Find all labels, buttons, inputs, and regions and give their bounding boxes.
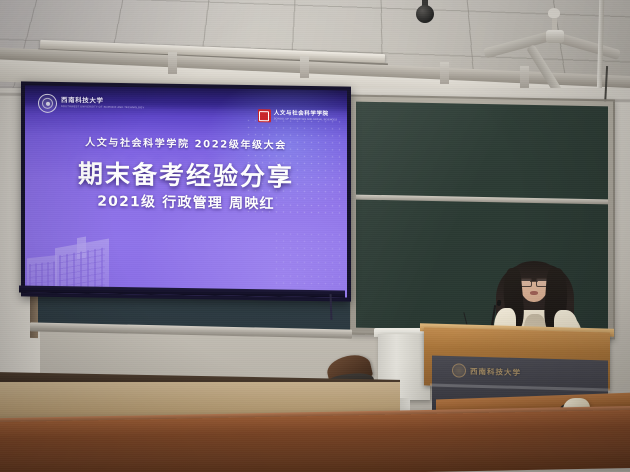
university-seal-icon — [38, 94, 57, 113]
dome-speaker-icon — [416, 5, 434, 23]
college-logo: 人文与社会科学学院 SCHOOL OF HUMANITIES AND SOCIA… — [258, 109, 337, 123]
podium-plaque-text: 西南科技大学 — [470, 365, 521, 377]
slide-subtitle: 2021级 行政管理 周映红 — [25, 189, 347, 214]
fan-blade — [555, 32, 621, 60]
university-name-en: SOUTHWEST UNIVERSITY OF SCIENCE AND TECH… — [61, 106, 144, 110]
slide-dot-pattern — [273, 230, 343, 287]
mouth — [530, 291, 538, 295]
university-logo: 西南科技大学 SOUTHWEST UNIVERSITY OF SCIENCE A… — [38, 94, 144, 115]
presentation-slide: 西南科技大学 SOUTHWEST UNIVERSITY OF SCIENCE A… — [25, 85, 347, 297]
fan-motor — [546, 30, 564, 43]
presenter-person — [492, 258, 578, 336]
eyeglasses-icon — [520, 278, 548, 285]
ceiling-drop-post — [168, 52, 177, 74]
ceiling-drop-post — [300, 56, 309, 78]
classroom-photo-scene: 西南科技大学 SOUTHWEST UNIVERSITY OF SCIENCE A… — [0, 0, 630, 472]
college-mark-icon — [258, 109, 271, 122]
podium-seal-icon — [452, 363, 466, 377]
fan-blade — [483, 30, 555, 58]
podium-plaque: 西南科技大学 — [452, 362, 572, 381]
college-name-en: SCHOOL OF HUMANITIES AND SOCIAL SCIENCES — [274, 118, 337, 121]
ceiling-drop-post — [520, 66, 529, 88]
ceiling-drop-post — [440, 62, 449, 84]
slide-main-title: 期末备考经验分享 — [25, 153, 347, 194]
fan-canopy — [548, 8, 560, 18]
projection-screen[interactable]: 西南科技大学 SOUTHWEST UNIVERSITY OF SCIENCE A… — [21, 81, 351, 301]
